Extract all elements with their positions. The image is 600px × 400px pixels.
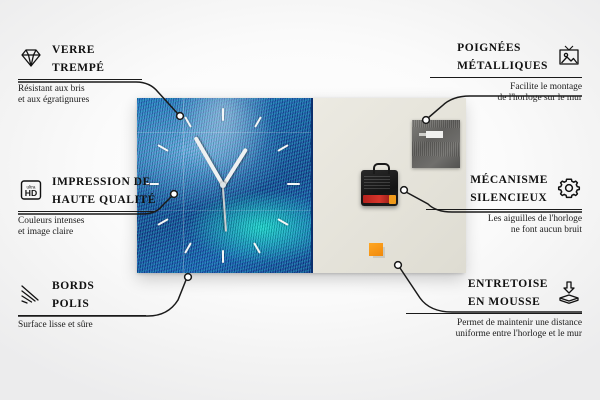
- svg-text:HD: HD: [25, 188, 37, 198]
- callout-title-line2: POLIS: [52, 298, 89, 310]
- callout-rule: [406, 313, 582, 314]
- metal-hanger-plate: [412, 120, 460, 168]
- callout-desc-line1: Couleurs intenses: [18, 216, 218, 227]
- callout-title-line1: IMPRESSION DE: [52, 176, 151, 188]
- callout-title-line1: MÉCANISME: [470, 174, 548, 186]
- ultra-hd-icon: ultra HD: [18, 178, 44, 202]
- gear-icon: [556, 176, 582, 200]
- callout-title-line2: TREMPÉ: [52, 62, 105, 74]
- callout-mecanisme-silencieux: MÉCANISME SILENCIEUX Les aiguilles de l'…: [382, 170, 582, 237]
- diamond-icon: [18, 46, 44, 70]
- callout-entretoise-en-mousse: ENTRETOISE EN MOUSSE Permet de maintenir…: [382, 274, 582, 341]
- callout-title-line2: HAUTE QUALITÉ: [52, 194, 156, 206]
- callout-rule: [430, 77, 582, 78]
- callout-title-line1: ENTRETOISE: [468, 278, 548, 290]
- callout-desc-line1: Permet de maintenir une distance: [382, 318, 582, 329]
- callout-rule: [18, 79, 142, 80]
- callout-desc-line2: uniforme entre l'horloge et le mur: [382, 329, 582, 340]
- callout-title-line2: EN MOUSSE: [468, 296, 540, 308]
- callout-title-line2: SILENCIEUX: [470, 192, 547, 204]
- callout-desc-line2: et image claire: [18, 227, 218, 238]
- callout-desc-line2: de l'horloge sur le mur: [382, 93, 582, 104]
- callout-rule: [18, 315, 146, 316]
- callout-poignees-metalliques: POIGNÉES MÉTALLIQUES Facilite le montage…: [382, 38, 582, 105]
- polished-edge-icon: [18, 282, 44, 306]
- callout-title-line1: BORDS: [52, 280, 94, 292]
- foam-spacer: [369, 243, 383, 256]
- callout-desc-line1: Les aiguilles de l'horloge: [382, 214, 582, 225]
- clock-tick: [222, 108, 224, 121]
- hanger-slot: [426, 131, 443, 138]
- callout-bords-polis: BORDS POLIS Surface lisse et sûre: [18, 276, 218, 331]
- callout-title-line1: VERRE: [52, 44, 95, 56]
- callout-desc-line2: ne font aucun bruit: [382, 225, 582, 236]
- callout-desc-line1: Surface lisse et sûre: [18, 320, 218, 331]
- clock-center-hub: [220, 182, 226, 188]
- callout-rule: [426, 209, 582, 210]
- callout-desc-line1: Facilite le montage: [382, 82, 582, 93]
- clock-tick: [222, 250, 224, 263]
- callout-desc-line2: et aux égratignures: [18, 95, 218, 106]
- callout-verre-trempe: VERRE TREMPÉ Résistant aux bris et aux é…: [18, 40, 218, 107]
- callout-desc-line1: Résistant aux bris: [18, 84, 218, 95]
- callout-impression-haute-qualite: ultra HD IMPRESSION DE HAUTE QUALITÉ Cou…: [18, 172, 218, 239]
- clock-tick: [287, 183, 300, 185]
- infographic-canvas: VERRE TREMPÉ Résistant aux bris et aux é…: [0, 0, 600, 400]
- callout-rule: [18, 211, 156, 212]
- foam-spacer-icon: [556, 280, 582, 304]
- picture-hanger-icon: [556, 44, 582, 68]
- callout-title-line1: POIGNÉES: [457, 42, 521, 54]
- callout-title-line2: MÉTALLIQUES: [457, 60, 548, 72]
